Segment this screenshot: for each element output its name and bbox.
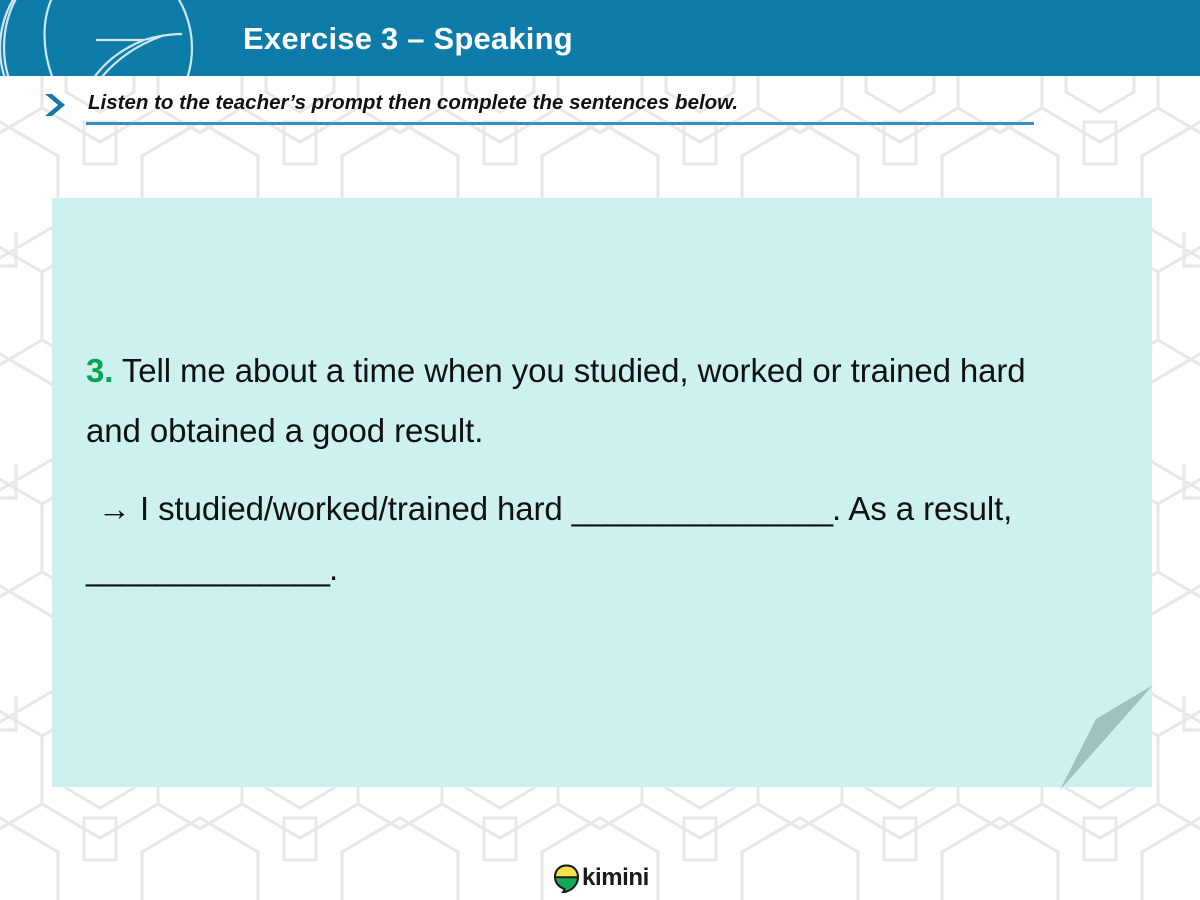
answer-blank-1[interactable]: _______________ bbox=[572, 490, 832, 527]
instruction-text: Listen to the teacher’s prompt then comp… bbox=[88, 90, 738, 116]
exercise-body-text: 3. Tell me about a time when you studied… bbox=[86, 341, 1086, 599]
answer-arrow-icon: → bbox=[98, 490, 131, 527]
instruction-row: Listen to the teacher’s prompt then comp… bbox=[42, 90, 1002, 134]
kimini-g-watermark-icon bbox=[0, 0, 200, 76]
answer-part-2: . As a result, bbox=[832, 490, 1012, 527]
kimini-footer-logo: kimini bbox=[553, 861, 647, 895]
question-line: 3. Tell me about a time when you studied… bbox=[86, 341, 1086, 461]
answer-line: → I studied/worked/trained hard ________… bbox=[86, 479, 1086, 599]
answer-part-1: I studied/worked/trained hard bbox=[140, 490, 563, 527]
question-number: 3. bbox=[86, 352, 113, 389]
kimini-bubble-icon bbox=[553, 864, 580, 893]
answer-part-3: . bbox=[329, 550, 338, 587]
instruction-underline bbox=[86, 122, 1034, 125]
kimini-wordmark: kimini bbox=[582, 866, 649, 890]
question-text: Tell me about a time when you studied, w… bbox=[86, 352, 1026, 449]
page-title: Exercise 3 – Speaking bbox=[243, 20, 573, 58]
slide-canvas: 3. Tell me about a time when you studied… bbox=[0, 0, 1200, 900]
header-band: Exercise 3 – Speaking bbox=[0, 0, 1200, 76]
answer-blank-2[interactable]: ______________ bbox=[86, 550, 329, 587]
chevron-right-icon bbox=[42, 92, 68, 118]
